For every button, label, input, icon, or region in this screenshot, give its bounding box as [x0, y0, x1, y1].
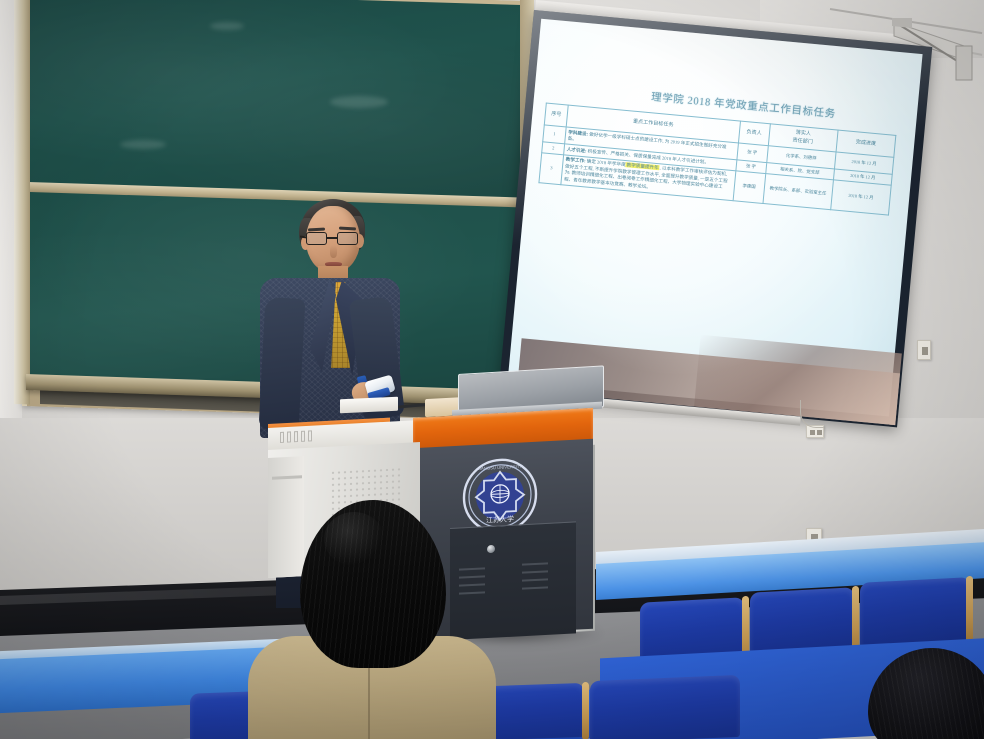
lectern-button[interactable] [301, 431, 305, 442]
presenter-arm-left [259, 297, 306, 431]
seat[interactable] [860, 577, 970, 649]
seat[interactable] [590, 675, 740, 739]
lectern-lower-cabinet[interactable] [450, 521, 576, 640]
lecture-hall-photo: 理学院 2018 年党政重点工作目标任务 序号 重点工作目标任务 负责人 落实人… [0, 0, 984, 739]
projector-screen-surface [508, 19, 923, 417]
presenter-nose [330, 245, 337, 258]
eyeglasses-icon [304, 232, 362, 246]
chalk-smudge [330, 96, 388, 108]
seat-divider [966, 576, 973, 646]
papers-stack-left [340, 397, 398, 414]
eyeglass-lens-right [337, 232, 358, 245]
svg-text:江苏大学: 江苏大学 [486, 514, 514, 524]
seat-divider [582, 682, 589, 739]
chalk-smudge [120, 140, 166, 149]
wall-switch-upper[interactable] [917, 340, 931, 360]
lectern-button[interactable] [308, 430, 312, 441]
lectern-button[interactable] [294, 431, 298, 442]
blackboard-left-post [14, 0, 30, 404]
attendee-front-hair-highlight [324, 512, 384, 566]
chalk-smudge [210, 22, 244, 30]
projector-screen [499, 10, 933, 427]
eyeglass-bridge [327, 237, 337, 239]
blackboard-upper-panel [30, 0, 526, 201]
eyeglass-lens-left [306, 232, 327, 245]
lectern-button[interactable] [287, 431, 291, 442]
lectern-button[interactable] [280, 432, 284, 443]
svg-text:JIANGSU UNIVERSITY: JIANGSU UNIVERSITY [478, 464, 523, 471]
